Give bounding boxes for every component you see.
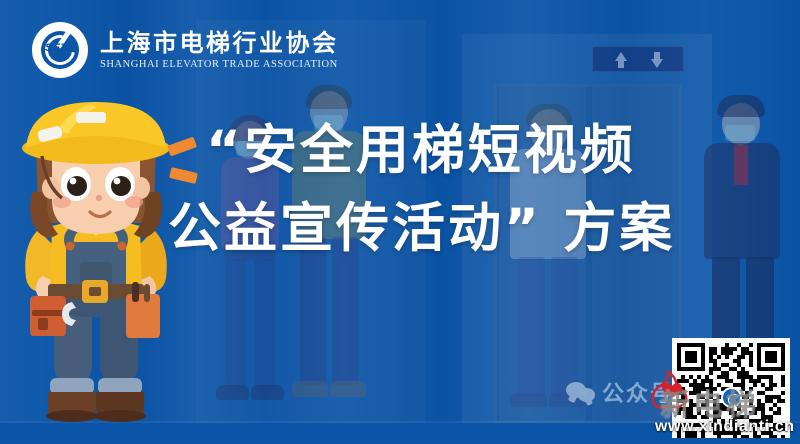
association-logo: SETA 上海市电梯行业协会 SHANGHAI ELEVATOR TRADE A… <box>32 22 339 78</box>
wechat-icon <box>566 381 596 403</box>
mascot-illustration <box>0 96 196 444</box>
association-name-en: SHANGHAI ELEVATOR TRADE ASSOCIATION <box>100 59 339 70</box>
website-url: www.xindianti.cn <box>655 418 795 436</box>
association-name-cn: 上海市电梯行业协会 <box>100 30 339 56</box>
headline-line-2: 公益宣传活动” 方案 <box>168 190 786 268</box>
poster-headline: “安全用梯短视频 公益宣传活动” 方案 <box>206 112 786 269</box>
poster-canvas: SETA 上海市电梯行业协会 SHANGHAI ELEVATOR TRADE A… <box>0 0 800 444</box>
seta-logo-text: SETA <box>32 42 88 54</box>
headline-line-1: “安全用梯短视频 <box>206 112 786 190</box>
seta-logo-icon: SETA <box>32 22 88 78</box>
